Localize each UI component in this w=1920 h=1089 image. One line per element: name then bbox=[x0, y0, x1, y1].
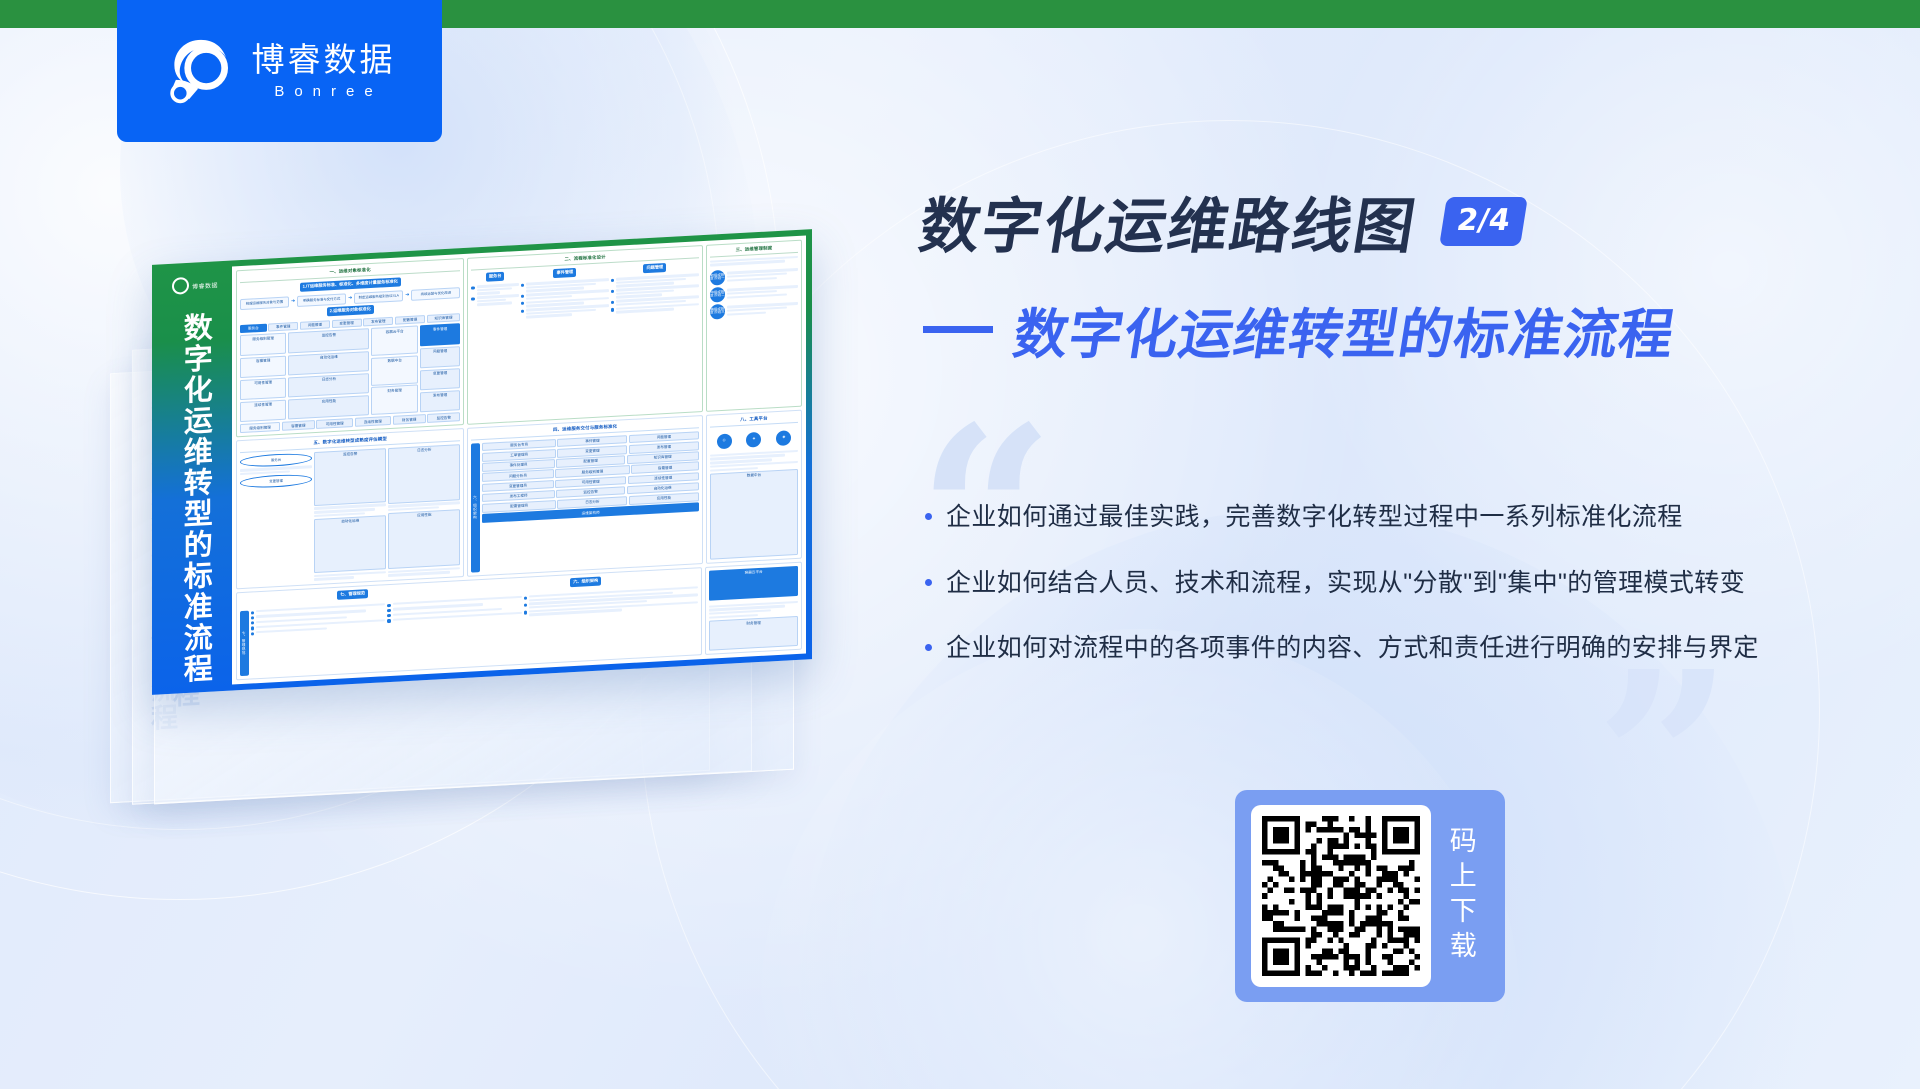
poster-tool-icon: ◈ bbox=[746, 432, 761, 448]
bullet-dot-icon bbox=[251, 627, 254, 630]
poster-chip: 监控告警 bbox=[314, 448, 386, 506]
poster-chip: 应用性能 bbox=[388, 509, 460, 569]
poster-chip: 连续性管理 bbox=[355, 416, 392, 427]
bullet-dot-icon bbox=[251, 621, 254, 624]
page-subtitle: 数字化运维转型的标准流程 bbox=[1009, 290, 1682, 369]
bullet-text: 企业如何对流程中的各项事件的内容、方式和责任进行明确的安排与界定 bbox=[946, 629, 1759, 669]
bullet-dot-icon bbox=[524, 596, 527, 599]
list-item: 企业如何对流程中的各项事件的内容、方式和责任进行明确的安排与界定 bbox=[925, 629, 1825, 669]
qr-download-card[interactable]: 码上下载 bbox=[1235, 790, 1505, 1002]
list-item: 企业如何结合人员、技术和流程，实现从"分散"到"集中"的管理模式转变 bbox=[925, 564, 1825, 604]
qr-code-frame bbox=[1251, 805, 1431, 987]
poster-chip: 容器云平台 bbox=[371, 326, 417, 357]
poster-chip: 发布管理 bbox=[363, 317, 393, 327]
poster-flow-step: 制定运维服务级别协议SLA bbox=[354, 290, 403, 304]
bullet-dot-icon bbox=[521, 284, 524, 287]
brand-logo-card: 博睿数据 Bonree bbox=[117, 0, 442, 142]
bullet-list: 企业如何通过最佳实践，完善数字化转型过程中一系列标准化流程 企业如何结合人员、技… bbox=[925, 498, 1825, 695]
poster-chip: 配置管理 bbox=[395, 315, 425, 325]
poster-badge: 高级成熟度 阶段三 bbox=[710, 304, 725, 320]
poster-chip: 自动化运维 bbox=[314, 515, 386, 573]
poster-chip: 日志分析 bbox=[388, 444, 460, 504]
poster-chip: 容器云平台 bbox=[709, 566, 798, 601]
poster-flow-step: 梳理运维服务对象与范围 bbox=[240, 296, 289, 310]
poster-chip: 容量管理 bbox=[282, 421, 315, 432]
poster-band: 1.IT运维服务标准、标准化、多维度计量服务标准化 bbox=[300, 277, 401, 292]
bullet-dot-icon bbox=[251, 632, 254, 635]
bullet-dot-icon bbox=[387, 619, 390, 622]
poster-chip: 发布管理 bbox=[420, 390, 461, 413]
bullet-text: 企业如何通过最佳实践，完善数字化转型过程中一系列标准化流程 bbox=[946, 498, 1683, 538]
bullet-dot-icon bbox=[387, 609, 390, 612]
poster-chip: 问题管理 bbox=[420, 346, 461, 369]
page-number-badge: 2/4 bbox=[1439, 197, 1527, 246]
poster-chip: 知识库管理 bbox=[427, 313, 461, 324]
poster-chip: 服务级别管理 bbox=[240, 422, 280, 433]
poster-band: 服务台 bbox=[486, 271, 505, 281]
poster-section-caption: 八、工具平台 bbox=[710, 414, 798, 427]
poster-chip: 可用性管理 bbox=[240, 377, 286, 400]
brand-logo-text: 博睿数据 Bonree bbox=[252, 42, 396, 100]
arrow-right-icon: ➜ bbox=[405, 292, 409, 298]
brand-name-cn: 博睿数据 bbox=[252, 42, 396, 78]
arrow-right-icon: ➜ bbox=[291, 298, 295, 304]
bullet-dot-icon bbox=[925, 579, 932, 586]
bullet-dot-icon bbox=[925, 644, 932, 651]
poster-chip: 应用性能 bbox=[288, 395, 369, 420]
poster-content: 一、运维对象标准化 1.IT运维服务标准、标准化、多维度计量服务标准化 梳理运维… bbox=[232, 235, 806, 684]
bonree-logo-icon bbox=[164, 34, 238, 108]
poster-chip: 问题管理 bbox=[300, 320, 330, 330]
poster-ellipse: 变更管理 bbox=[240, 473, 312, 489]
bullet-dot-icon bbox=[611, 279, 614, 282]
poster-tool-icon: ◉ bbox=[776, 430, 791, 446]
bullet-text: 企业如何结合人员、技术和流程，实现从"分散"到"集中"的管理模式转变 bbox=[946, 564, 1745, 604]
poster-chip: 数据中台 bbox=[710, 469, 798, 559]
page-title: 数字化运维路线图 bbox=[914, 178, 1424, 265]
poster-rail-logo-icon bbox=[172, 277, 189, 295]
poster-vertical-tab: 六、组织架构 bbox=[471, 443, 480, 573]
bullet-dot-icon bbox=[925, 513, 932, 520]
poster-badge: 初级成熟度 阶段一 bbox=[710, 270, 725, 286]
poster-side-rail: 博睿数据 数字化运维转型的标准流程 bbox=[158, 267, 232, 689]
poster-chip: 自动化运维 bbox=[288, 351, 369, 376]
subtitle-row: 数字化运维转型的标准流程 bbox=[923, 290, 1675, 369]
poster-chip: 服务级别管理 bbox=[240, 333, 286, 356]
poster-band: 六、组织架构 bbox=[570, 576, 601, 587]
poster-band: 事件管理 bbox=[553, 267, 576, 277]
arrow-right-icon: ➜ bbox=[348, 295, 352, 301]
bullet-dot-icon bbox=[521, 295, 524, 298]
poster-chip: 变更管理 bbox=[420, 368, 461, 391]
bullet-dot-icon bbox=[524, 604, 527, 607]
poster-thumbnail[interactable]: 博睿数据 数字化运维转型的标准流程 一、运维对象标准化 1.IT运维服务标准、标… bbox=[152, 229, 812, 695]
bullet-dot-icon bbox=[251, 611, 254, 614]
poster-rail-title: 数字化运维转型的标准流程 bbox=[179, 312, 211, 686]
poster-chip: 变更管理 bbox=[332, 318, 362, 328]
poster-flow-step: 明确服务标准与交付方式 bbox=[297, 293, 346, 307]
bullet-dot-icon bbox=[251, 616, 254, 619]
poster-chip: 可用性管理 bbox=[316, 418, 353, 429]
poster-chip: 财务管理 bbox=[393, 414, 426, 425]
poster-chip: 事件管理 bbox=[420, 324, 461, 347]
bullet-dot-icon bbox=[387, 604, 390, 607]
poster-band: 七、管理规范 bbox=[337, 589, 368, 600]
poster-chip: 监控告警 bbox=[427, 413, 460, 424]
qr-label: 码上下载 bbox=[1445, 826, 1475, 966]
list-item: 企业如何通过最佳实践，完善数字化转型过程中一系列标准化流程 bbox=[925, 498, 1825, 538]
poster-badge: 中级成熟度 阶段二 bbox=[710, 287, 725, 303]
poster-stack: 数字化运维转型的标准流程 数字化运维转型的标准流程 数字化运维转型的标准流程 博… bbox=[110, 285, 850, 845]
poster-vertical-tab: 七、管理规范 bbox=[240, 611, 249, 677]
dash-decoration bbox=[923, 326, 993, 333]
brand-name-en: Bonree bbox=[264, 83, 382, 100]
poster-chip: 容量管理 bbox=[240, 355, 286, 378]
poster-chip: 日志分析 bbox=[288, 373, 369, 398]
poster-chip: 服务台 bbox=[240, 323, 267, 333]
poster-rail-logo-text: 博睿数据 bbox=[192, 280, 218, 290]
bullet-dot-icon bbox=[524, 611, 527, 614]
poster-chip: 监控告警 bbox=[288, 329, 369, 354]
poster-chip: 连续性管理 bbox=[240, 399, 286, 422]
bullet-dot-icon bbox=[611, 308, 614, 311]
bullet-dot-icon bbox=[521, 309, 524, 312]
bullet-dot-icon bbox=[387, 614, 390, 617]
bullet-dot-icon bbox=[611, 290, 614, 293]
bullet-dot-icon bbox=[611, 301, 614, 304]
title-row: 数字化运维路线图 2/4 bbox=[921, 178, 1524, 265]
poster-band: 问题管理 bbox=[643, 263, 666, 273]
poster-flow-step: 持续运营与优化改进 bbox=[411, 287, 460, 301]
bullet-dot-icon bbox=[521, 302, 524, 305]
poster-chip: 数据中台 bbox=[371, 355, 417, 386]
poster-tool-icon: ◎ bbox=[717, 433, 732, 449]
poster-chip: 财务管理 bbox=[371, 385, 417, 416]
poster-chip: 事件管理 bbox=[268, 322, 298, 332]
qr-code-image bbox=[1262, 816, 1420, 976]
poster-chip: 财务管理 bbox=[709, 616, 798, 651]
bullet-dot-icon bbox=[471, 297, 474, 300]
bullet-dot-icon bbox=[471, 286, 474, 289]
poster-band: 2.运维服务对象标准化 bbox=[327, 304, 374, 316]
